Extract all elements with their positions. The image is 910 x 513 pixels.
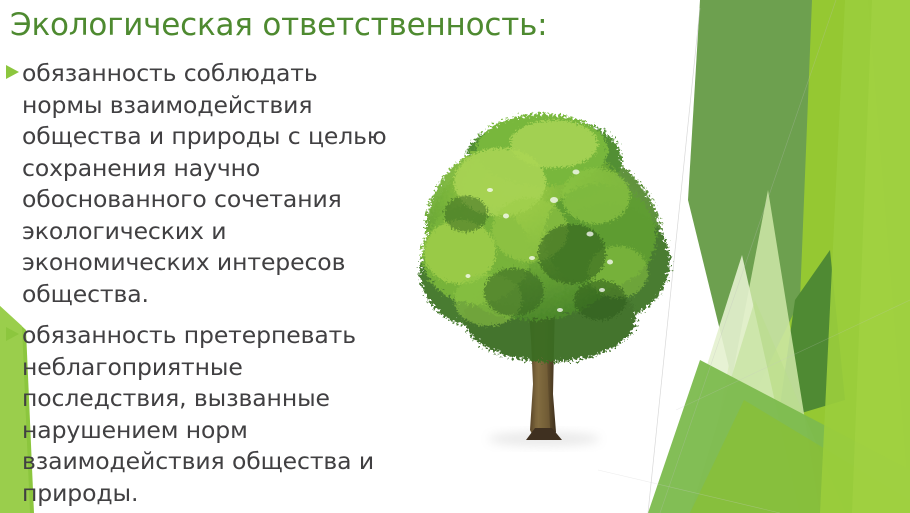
slide-canvas: Экологическая ответственность: обязаннос… [0,0,910,513]
bullet-list: обязанность соблюдать нормы взаимодейств… [0,58,392,509]
deco-shape-lower-sweep-2 [690,400,910,513]
deco-shape-right-overlay [820,0,910,513]
deco-shape-sage-wedge [688,0,812,420]
list-item: обязанность претерпевать неблагоприятные… [0,320,392,509]
deco-hairline-2 [660,0,836,513]
deco-shape-dark-sliver [778,250,845,420]
deco-shape-pale-2 [660,255,800,513]
deco-shape-lower-sweep [648,360,910,513]
list-item-text: обязанность соблюдать нормы взаимодейств… [22,58,392,310]
page-title: Экологическая ответственность: [10,6,670,44]
deco-shape-right-overlay-2 [852,0,910,513]
list-item-text: обязанность претерпевать неблагоприятные… [22,320,392,509]
triangle-right-bullet-icon [0,58,22,79]
tree-canopy [420,114,670,362]
triangle-right-bullet-icon [0,320,22,341]
deciduous-tree-photo [404,104,680,480]
list-item: обязанность соблюдать нормы взаимодейств… [0,58,392,310]
deco-shape-bright-right-2 [700,0,910,513]
deco-shape-pale-1 [706,190,820,513]
deco-hairline-3 [676,300,910,410]
deco-shape-bright-right [790,0,910,513]
deco-shape-pale-3 [690,300,846,513]
